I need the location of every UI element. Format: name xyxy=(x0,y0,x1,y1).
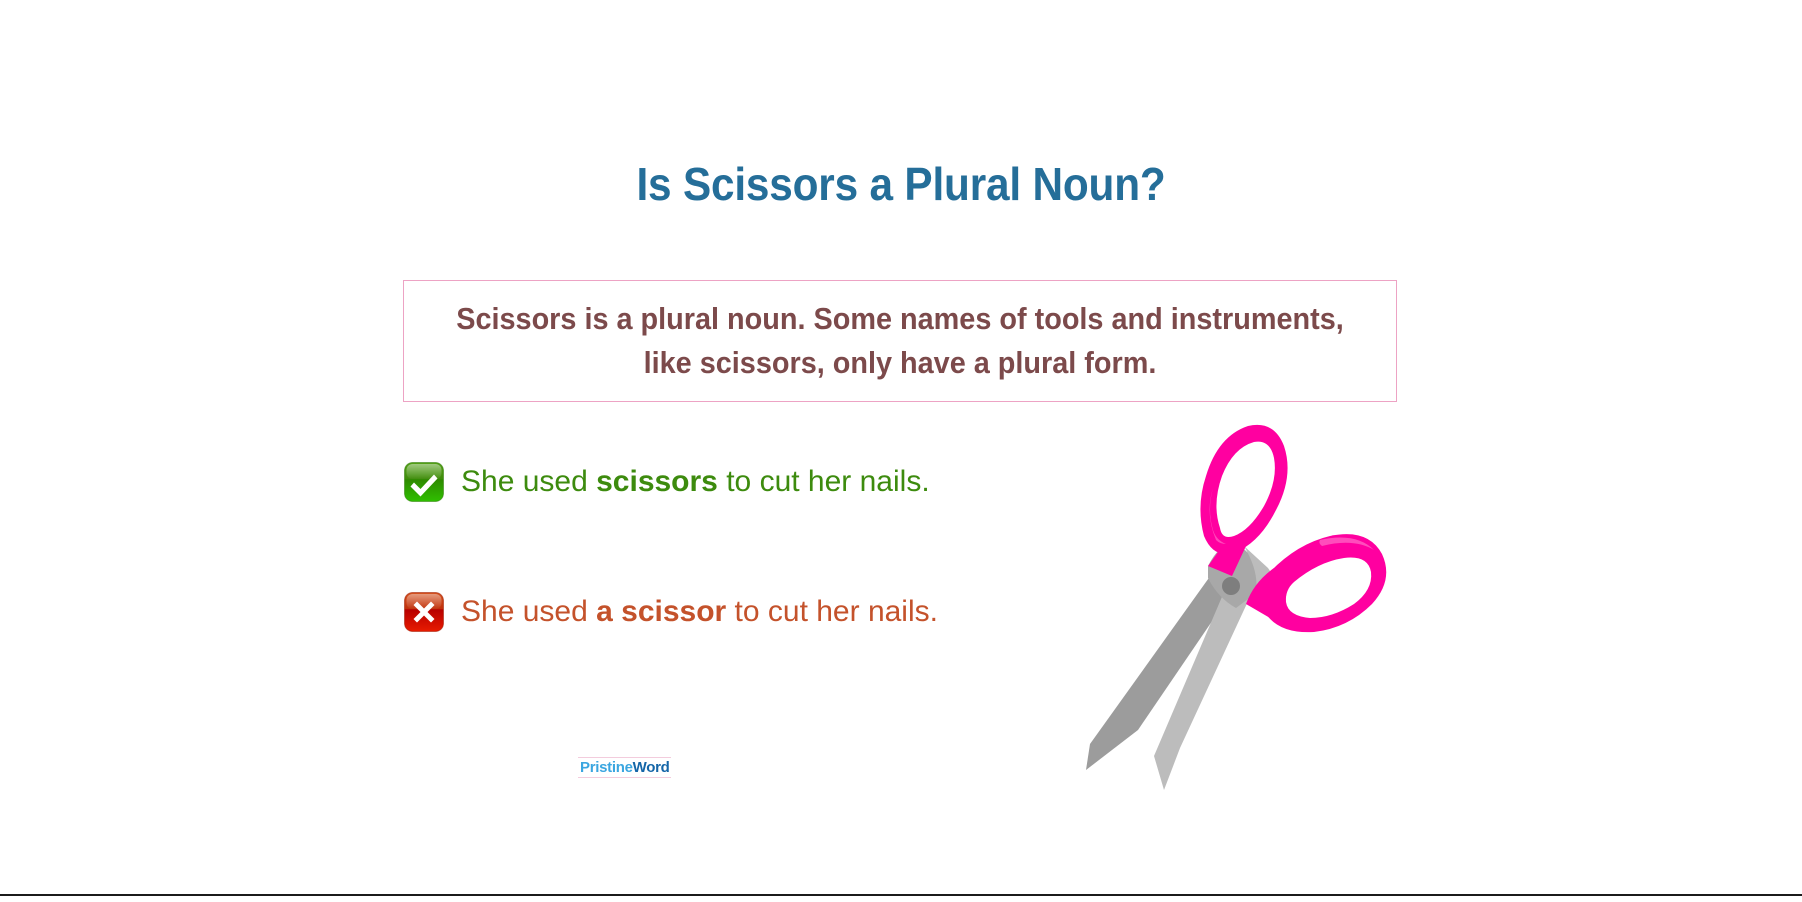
pivot-screw xyxy=(1222,577,1240,595)
slide-canvas: Is Scissors a Plural Noun? Scissors is a… xyxy=(0,0,1802,902)
sentence-after: to cut her nails. xyxy=(726,595,938,628)
sentence-before: She used xyxy=(461,465,596,498)
red-x-icon xyxy=(404,592,444,632)
watermark-part-one: Pristine xyxy=(580,759,633,776)
example-row-incorrect: She used a scissor to cut her nails. xyxy=(404,592,938,632)
scissors-illustration xyxy=(1068,418,1398,808)
watermark-logo: PristineWord xyxy=(578,757,671,778)
sentence-highlight: a scissor xyxy=(596,595,726,628)
example-sentence-incorrect: She used a scissor to cut her nails. xyxy=(461,594,938,630)
bottom-divider xyxy=(0,894,1802,896)
page-title: Is Scissors a Plural Noun? xyxy=(72,159,1730,210)
definition-box: Scissors is a plural noun. Some names of… xyxy=(403,280,1397,402)
sentence-after: to cut her nails. xyxy=(718,465,930,498)
watermark-part-two: Word xyxy=(633,759,670,776)
green-check-icon xyxy=(404,462,444,502)
sentence-highlight: scissors xyxy=(596,465,718,498)
example-row-correct: She used scissors to cut her nails. xyxy=(404,462,930,502)
sentence-before: She used xyxy=(461,595,596,628)
definition-text: Scissors is a plural noun. Some names of… xyxy=(439,297,1362,385)
example-sentence-correct: She used scissors to cut her nails. xyxy=(461,464,930,500)
